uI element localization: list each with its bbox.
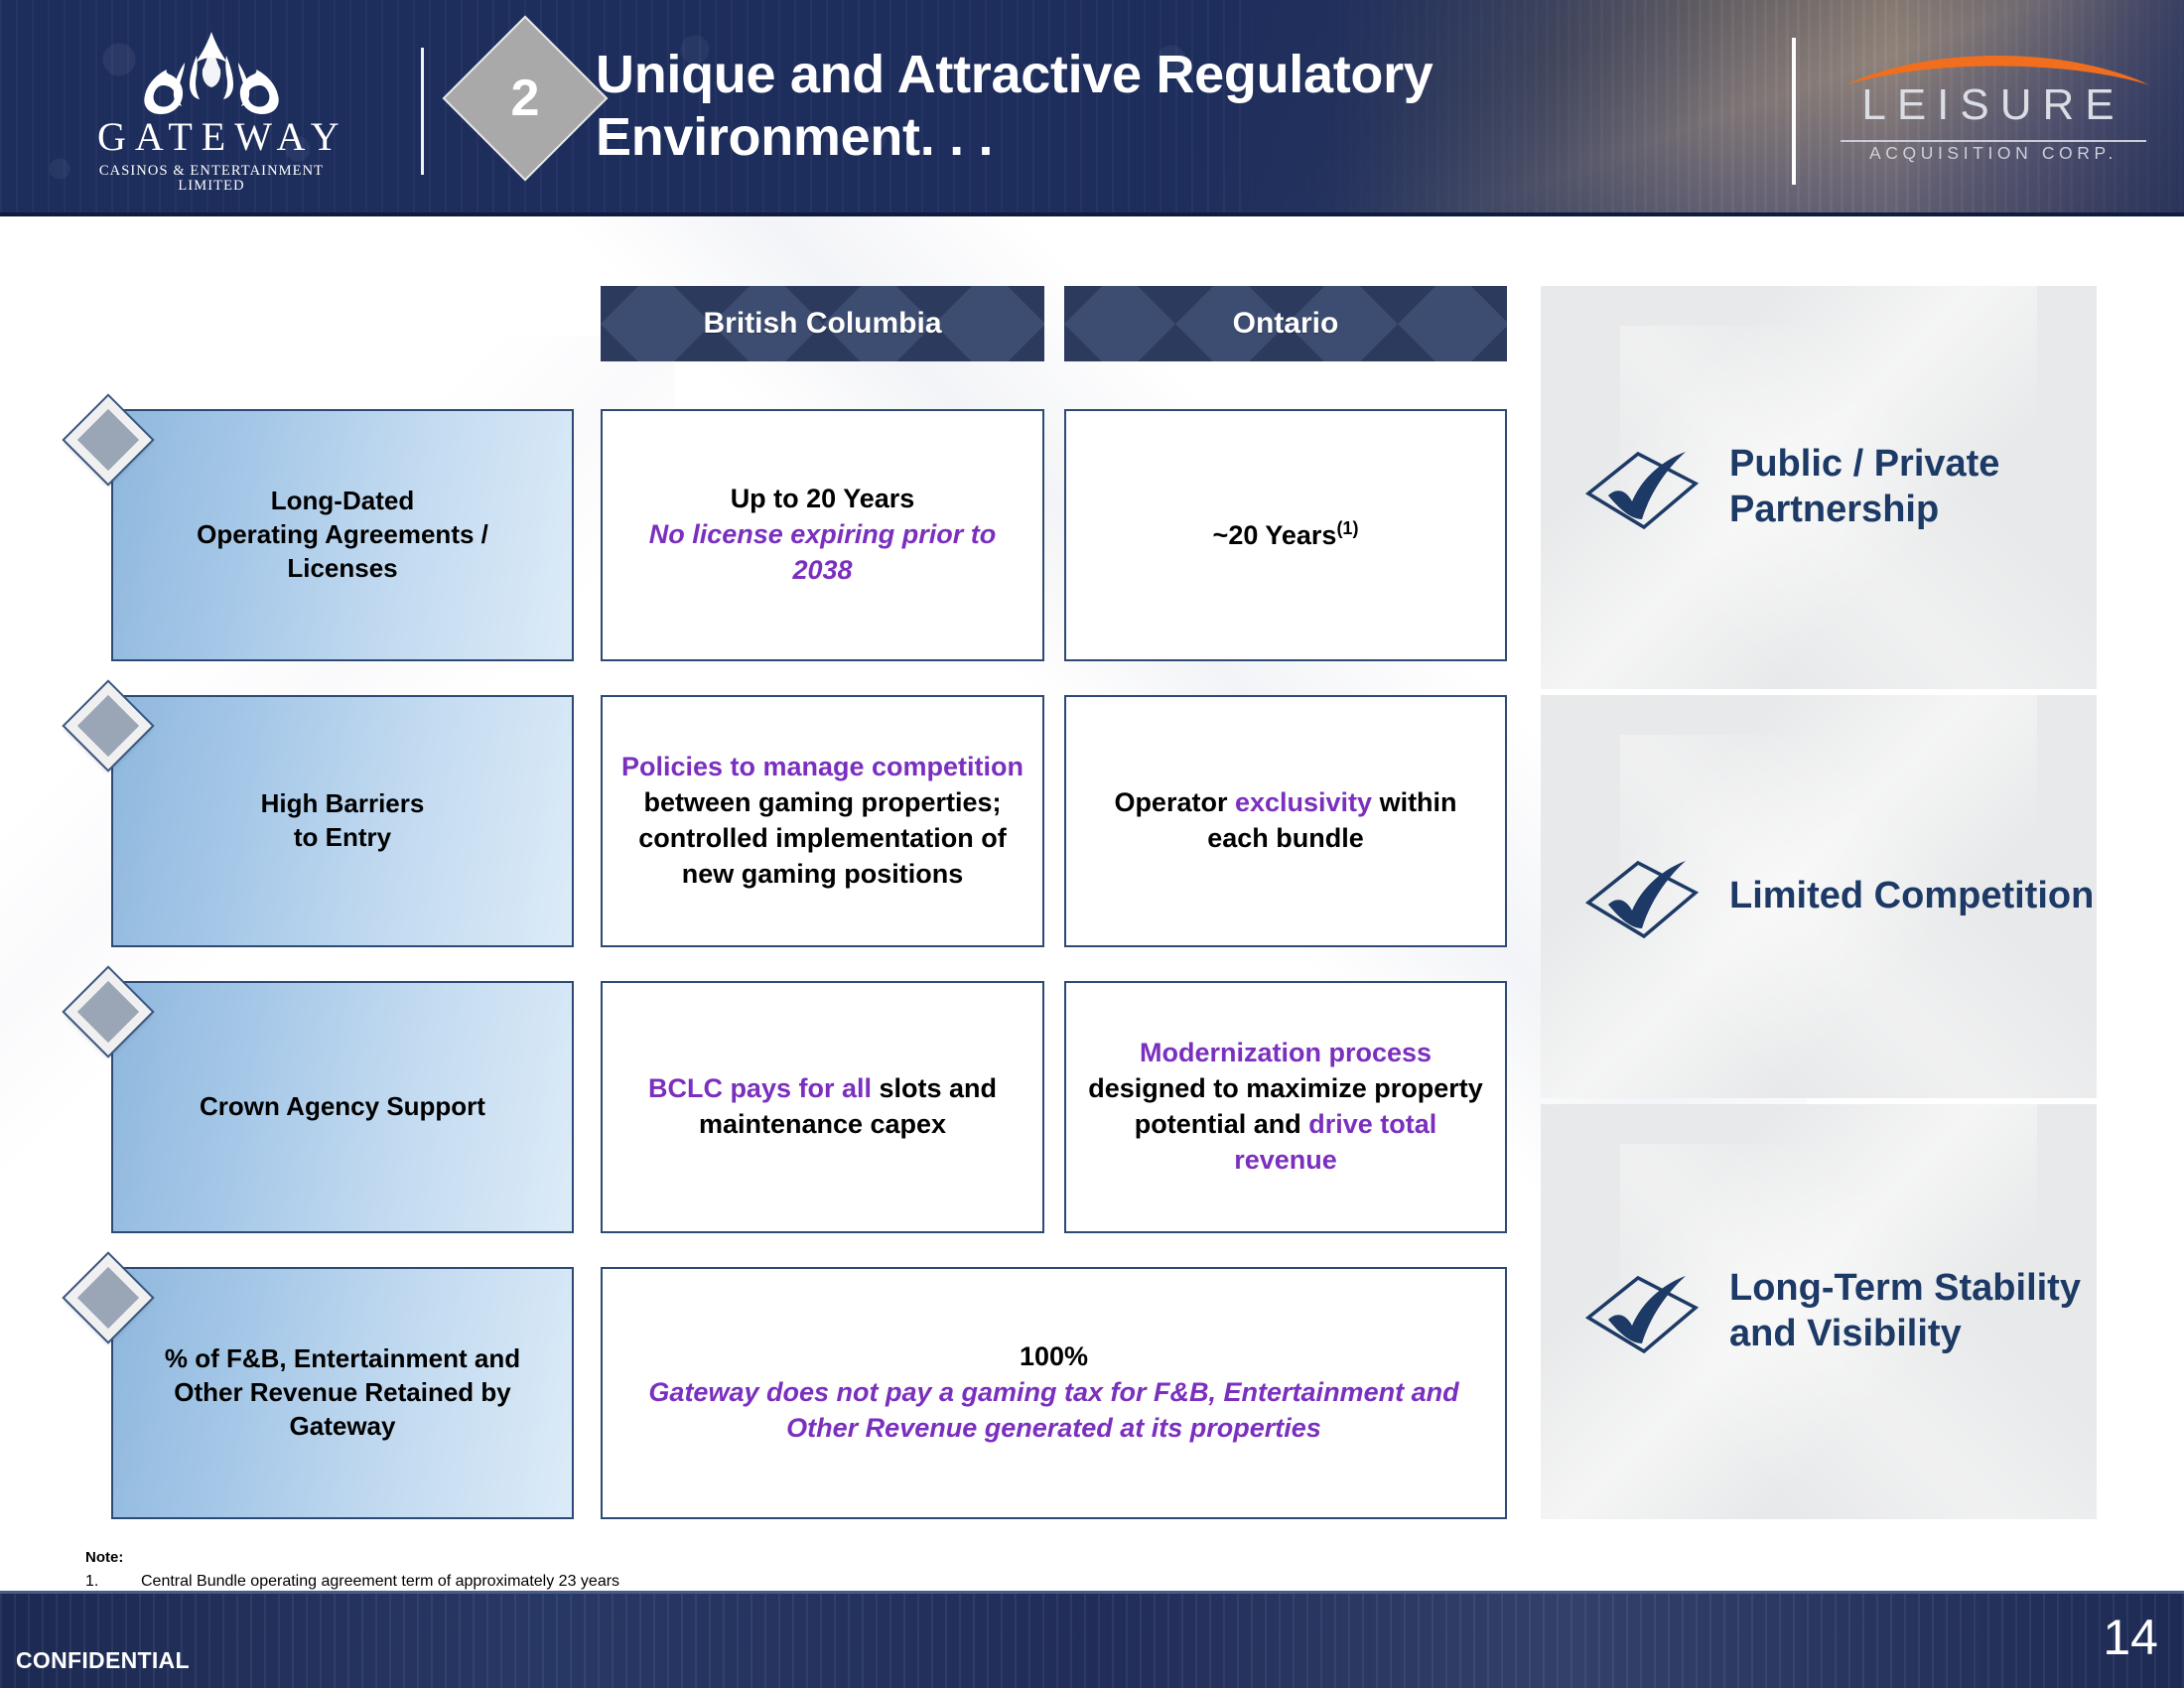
slide-root: GATEWAY CASINOS & ENTERTAINMENT LIMITED …: [0, 0, 2184, 1688]
slide-header: GATEWAY CASINOS & ENTERTAINMENT LIMITED …: [0, 0, 2184, 216]
cell-line-2: No license expiring prior to 2038: [618, 517, 1026, 589]
cell-line-1: ~20 Years: [1213, 520, 1337, 550]
cell-on-crown-agency: Modernization process designed to maximi…: [1064, 981, 1507, 1233]
row-label-high-barriers: High Barriers to Entry: [111, 695, 574, 947]
check-diamond-icon: [1580, 1258, 1704, 1365]
row-label-text: Crown Agency Support: [200, 1090, 485, 1124]
cell-bc-long-dated: Up to 20 Years No license expiring prior…: [601, 409, 1044, 661]
benefit-label: Public / Private Partnership: [1729, 442, 2097, 532]
benefit-panel-limited-competition: Limited Competition: [1541, 695, 2097, 1098]
footer-top-line: [0, 1591, 2184, 1594]
benefit-row: Long-Term Stability and Visibility: [1541, 1104, 2097, 1519]
column-header-british-columbia: British Columbia: [601, 286, 1044, 361]
page-number: 14: [2103, 1609, 2158, 1666]
header-bottom-line: [0, 212, 2184, 216]
benefit-row: Public / Private Partnership: [1541, 286, 2097, 689]
benefit-panel-long-term-stability: Long-Term Stability and Visibility: [1541, 1104, 2097, 1519]
column-header-label: British Columbia: [703, 307, 941, 341]
cell-on-long-dated: ~20 Years(1): [1064, 409, 1507, 661]
gateway-logo: GATEWAY CASINOS & ENTERTAINMENT LIMITED: [97, 30, 326, 189]
row-label-text: % of F&B, Entertainment and Other Revenu…: [165, 1342, 520, 1443]
cell-line-1: 100%: [618, 1339, 1489, 1375]
cell-text: Operator exclusivity within each bundle: [1082, 785, 1489, 857]
cell-on-high-barriers: Operator exclusivity within each bundle: [1064, 695, 1507, 947]
benefit-panel-public-private: Public / Private Partnership: [1541, 286, 2097, 689]
column-header-label: Ontario: [1233, 307, 1339, 341]
gateway-logo-name: GATEWAY: [97, 117, 326, 157]
row-label-crown-agency-support: Crown Agency Support: [111, 981, 574, 1233]
cell-spanning-fb-revenue: 100% Gateway does not pay a gaming tax f…: [601, 1267, 1507, 1519]
footer-texture: [0, 1591, 2184, 1688]
leisure-acquisition-logo: LEISURE ACQUISITION CORP.: [1835, 42, 2152, 181]
row-label-text: High Barriers to Entry: [261, 787, 425, 855]
cell-text: Policies to manage competition between g…: [618, 750, 1026, 893]
footnote-item: 1. Central Bundle operating agreement te…: [85, 1571, 1277, 1593]
slide-footer: CONFIDENTIAL 14: [0, 1591, 2184, 1688]
footnote-number: 1.: [85, 1571, 141, 1593]
row-label-text: Long-Dated Operating Agreements / Licens…: [197, 485, 488, 585]
row-label-fb-revenue-retained: % of F&B, Entertainment and Other Revenu…: [111, 1267, 574, 1519]
benefit-label: Long-Term Stability and Visibility: [1729, 1266, 2097, 1356]
header-divider-left: [421, 48, 424, 175]
row-label-long-dated-agreements: Long-Dated Operating Agreements / Licens…: [111, 409, 574, 661]
cell-bc-high-barriers: Policies to manage competition between g…: [601, 695, 1044, 947]
footnote-title: Note:: [85, 1548, 1277, 1568]
benefit-label: Limited Competition: [1729, 874, 2094, 919]
page-title: Unique and Attractive Regulatory Environ…: [596, 44, 1717, 169]
header-divider-right: [1792, 38, 1796, 185]
leisure-logo-name: LEISURE: [1835, 83, 2152, 127]
cell-footnote-ref: (1): [1336, 518, 1358, 538]
cell-text: BCLC pays for all slots and maintenance …: [618, 1071, 1026, 1143]
footnote-block: Note: 1. Central Bundle operating agreem…: [85, 1548, 1277, 1593]
cell-text: Modernization process designed to maximi…: [1082, 1036, 1489, 1179]
leisure-logo-rule: [1841, 140, 2146, 142]
cell-line-1: Up to 20 Years: [618, 482, 1026, 517]
confidential-label: CONFIDENTIAL: [16, 1647, 190, 1674]
column-header-ontario: Ontario: [1064, 286, 1507, 361]
cell-bc-crown-agency: BCLC pays for all slots and maintenance …: [601, 981, 1044, 1233]
check-diamond-icon: [1580, 843, 1704, 950]
cell-line-2: Gateway does not pay a gaming tax for F&…: [618, 1375, 1489, 1447]
gateway-crown-icon: [97, 30, 326, 115]
check-diamond-icon: [1580, 434, 1704, 541]
leisure-logo-subtitle: ACQUISITION CORP.: [1835, 145, 2152, 163]
benefit-row: Limited Competition: [1541, 695, 2097, 1098]
step-number-label: 2: [467, 40, 584, 157]
footnote-text: Central Bundle operating agreement term …: [141, 1571, 619, 1593]
gateway-logo-subtitle: CASINOS & ENTERTAINMENT LIMITED: [97, 164, 326, 193]
